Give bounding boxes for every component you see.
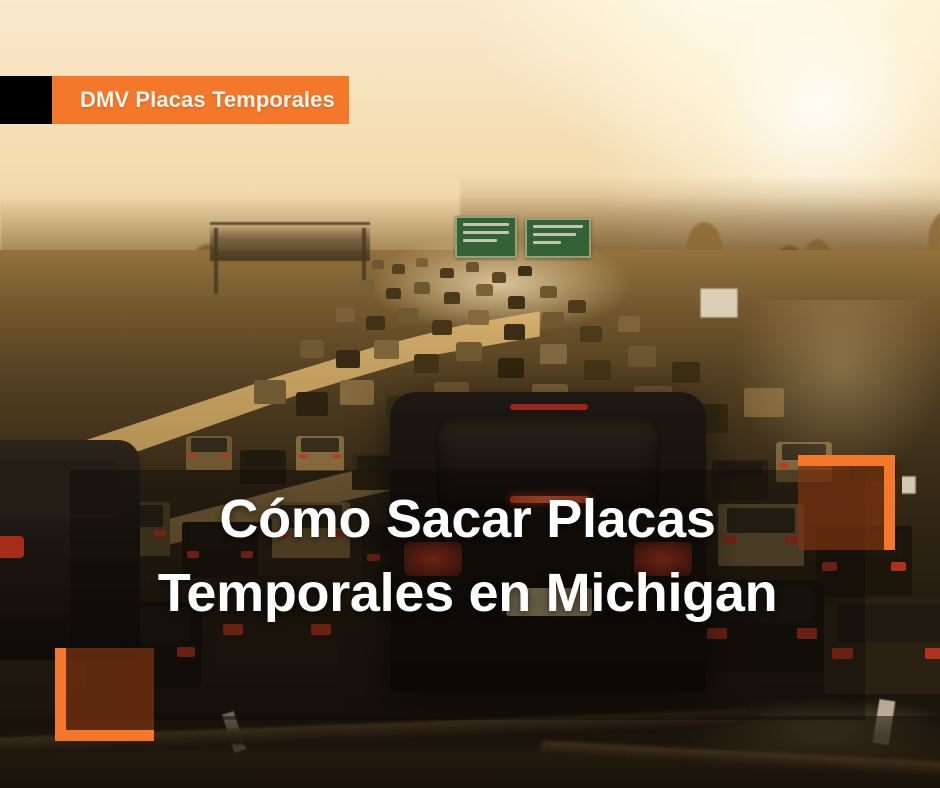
vehicle — [468, 310, 489, 325]
badge-label: DMV Placas Temporales — [80, 87, 335, 113]
vehicle — [360, 280, 375, 291]
roof-brake-light — [510, 404, 588, 410]
vehicle — [744, 388, 784, 417]
vehicle — [392, 264, 405, 274]
badge-orange-bar: DMV Placas Temporales — [52, 76, 349, 124]
vehicle — [374, 340, 399, 359]
vehicle — [568, 300, 586, 313]
hero-banner: Cómo Sacar Placas Temporales en Michigan… — [0, 0, 940, 788]
vehicle — [414, 354, 439, 373]
vehicle — [296, 392, 328, 416]
vehicle — [508, 296, 525, 309]
vehicle — [672, 362, 700, 383]
tail-lamp-left-car — [0, 536, 24, 558]
vehicle — [542, 312, 564, 328]
vehicle — [518, 266, 532, 276]
site-badge[interactable]: DMV Placas Temporales — [0, 76, 349, 124]
vehicle — [580, 326, 602, 342]
vehicle — [628, 346, 656, 367]
black-square-block-icon — [0, 76, 52, 124]
corner-accent-bottom-left-icon — [55, 648, 154, 741]
vehicle — [366, 316, 385, 330]
vehicle — [444, 292, 460, 304]
vehicle — [584, 360, 611, 380]
vehicle — [540, 286, 557, 298]
vehicle — [336, 308, 355, 322]
vehicle — [466, 262, 479, 272]
vehicle — [416, 258, 428, 267]
vehicle — [504, 324, 525, 340]
vehicle — [386, 288, 401, 299]
vehicle — [540, 344, 567, 364]
vehicle — [498, 358, 524, 378]
vehicle — [254, 380, 286, 404]
vehicle — [492, 272, 506, 283]
vehicle — [336, 350, 360, 368]
vehicle — [186, 436, 232, 470]
vehicle — [340, 380, 374, 405]
vehicle — [432, 320, 452, 335]
vehicle — [456, 342, 482, 361]
vehicle — [440, 268, 454, 278]
vehicle — [414, 282, 430, 294]
vehicle — [372, 260, 384, 269]
vehicle — [476, 284, 493, 296]
vehicle — [300, 340, 324, 358]
vehicle — [618, 316, 640, 332]
vehicle — [398, 308, 418, 323]
vehicle — [296, 436, 344, 471]
page-title: Cómo Sacar Placas Temporales en Michigan — [70, 482, 865, 630]
